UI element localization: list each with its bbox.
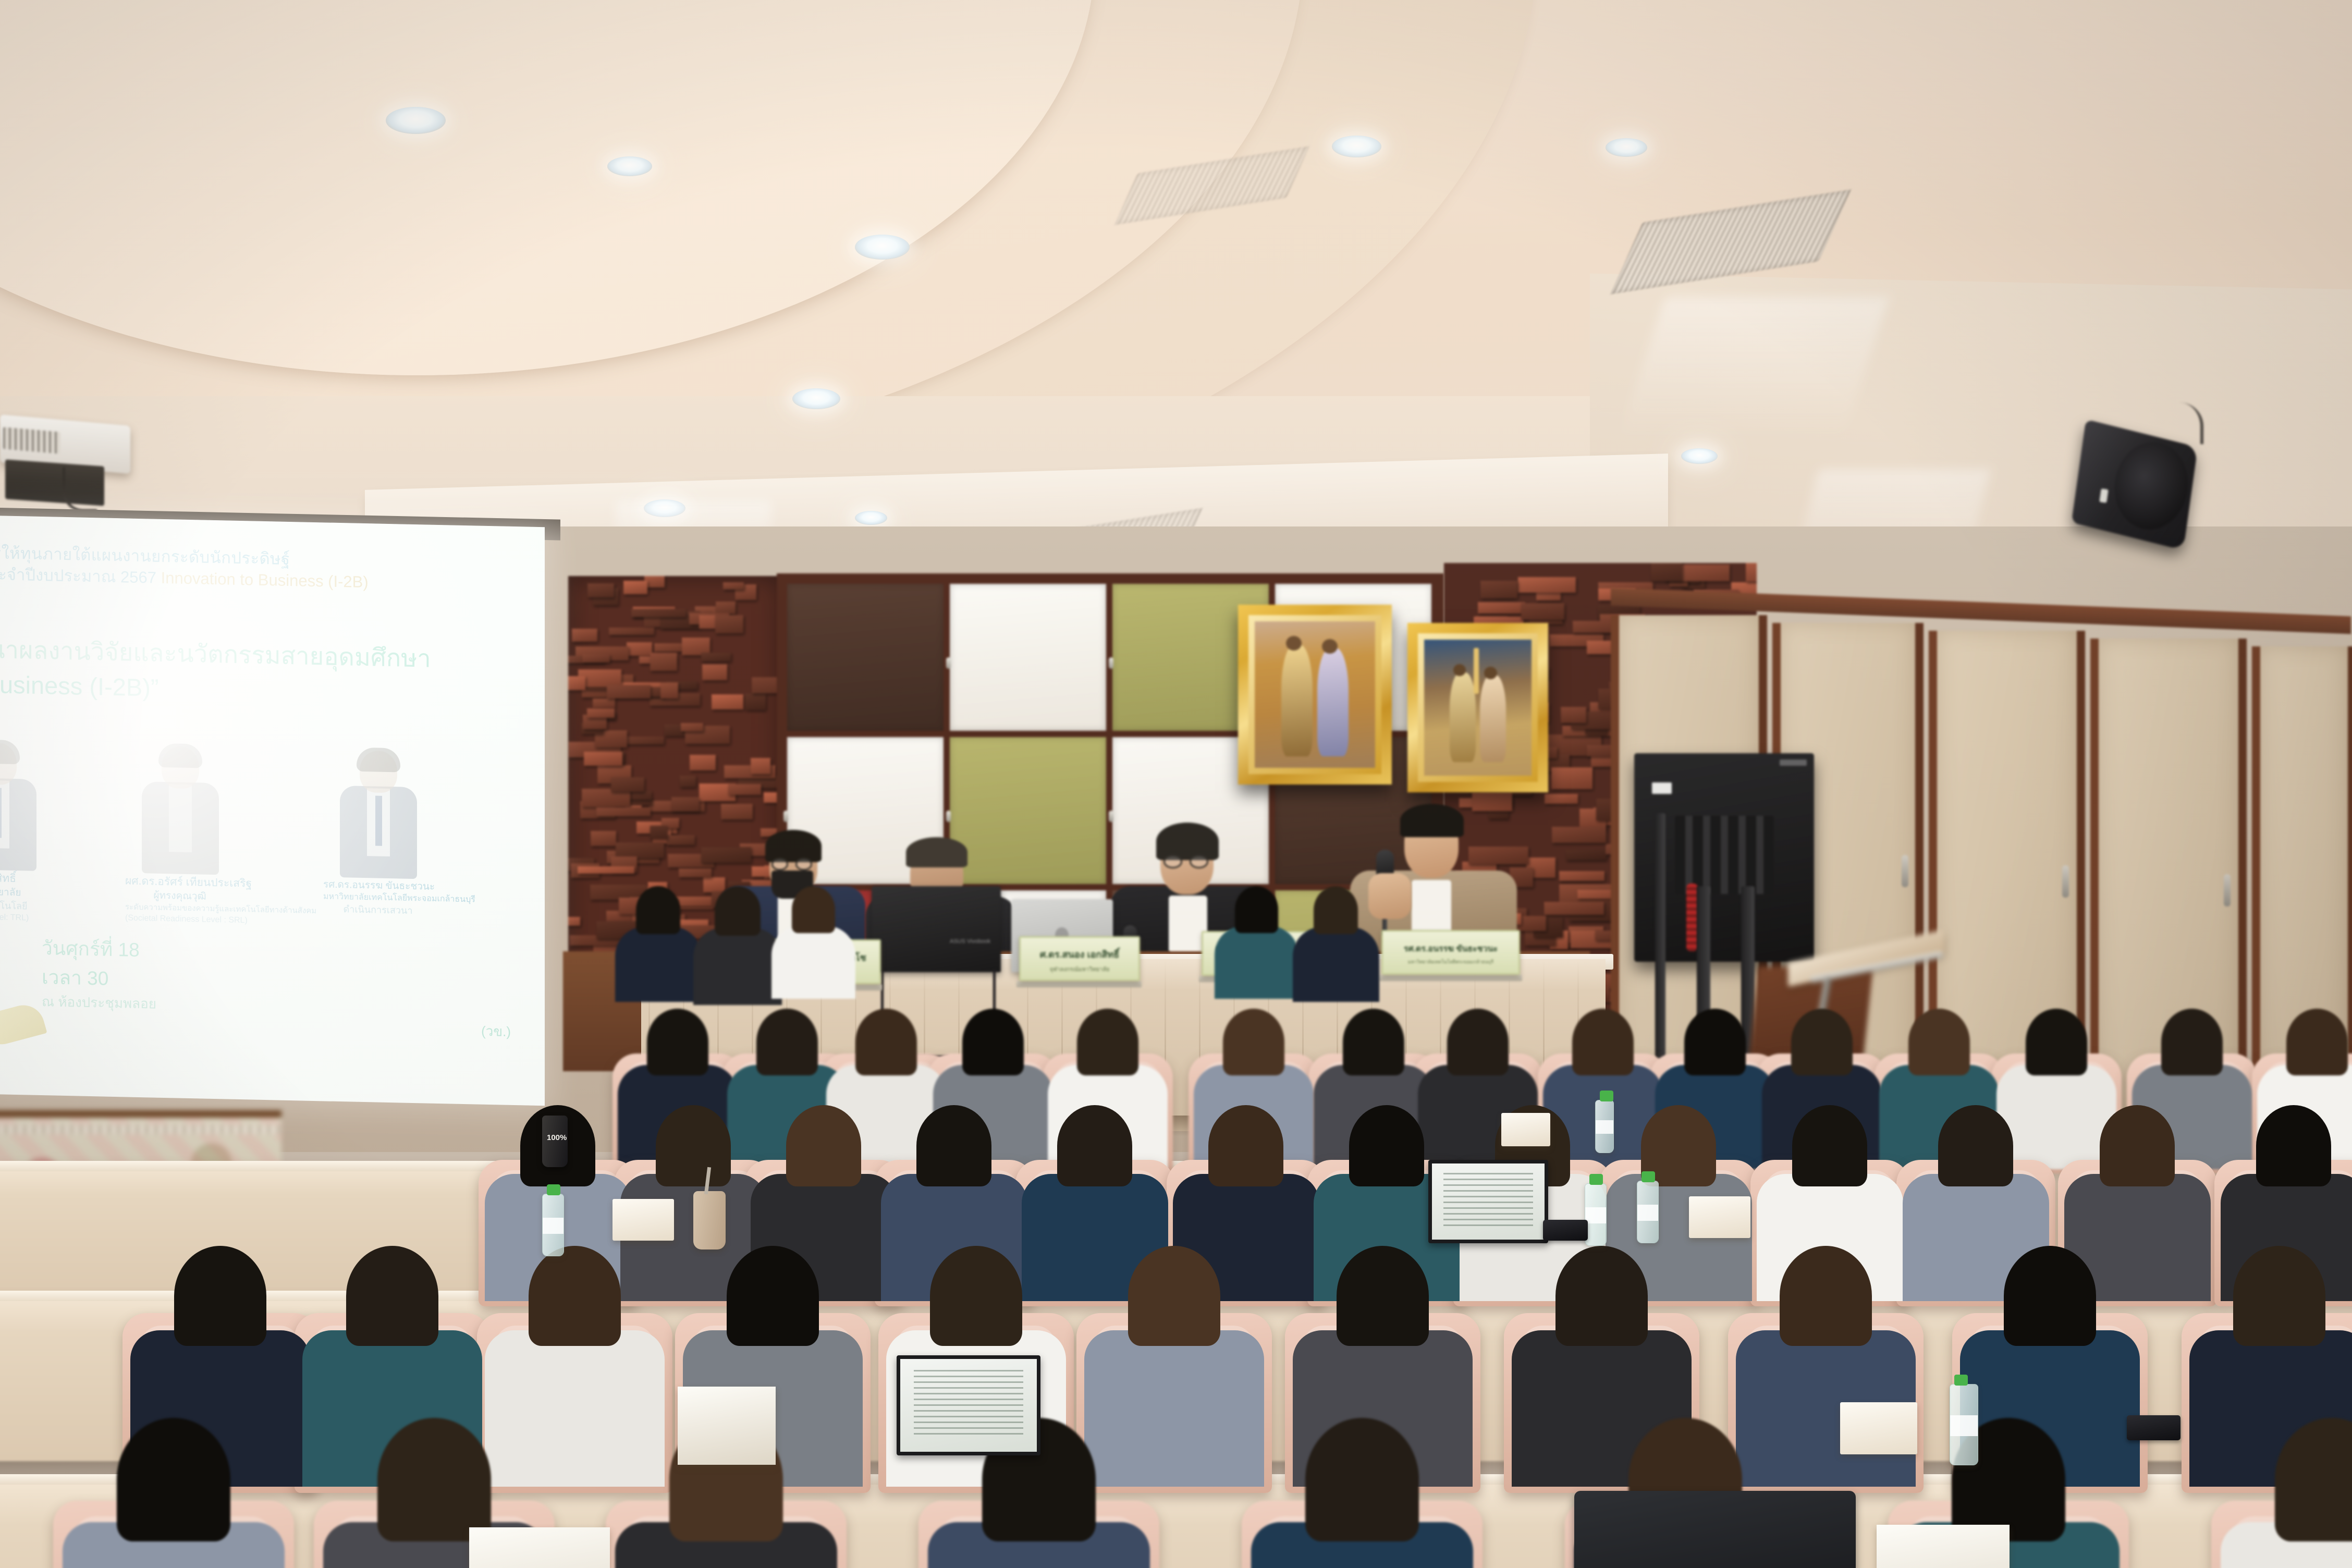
wood-block: [701, 653, 731, 661]
wood-block: [587, 708, 615, 717]
snack-box: [1501, 1113, 1550, 1146]
audience-member: [1293, 886, 1379, 999]
laptop-screen: [897, 1355, 1040, 1455]
audience-hair: [1684, 1009, 1746, 1075]
table-tent-card: [1877, 1525, 2010, 1568]
wood-block: [650, 653, 677, 671]
laptop-asus[interactable]: ASUS Vivobook: [872, 886, 1001, 972]
wood-block: [1478, 602, 1525, 613]
tv-label-sticker: [1652, 782, 1672, 794]
audience-hair: [1314, 886, 1358, 934]
downlight-icon: [855, 511, 887, 525]
ceiling-projector: [0, 417, 167, 511]
audience-hair: [2161, 1009, 2223, 1075]
audience-hair: [1349, 1105, 1424, 1186]
audience-hair: [636, 886, 680, 934]
audience-hair: [916, 1105, 991, 1186]
wood-block: [587, 583, 614, 598]
audience-hair: [1208, 1105, 1283, 1186]
downlight-icon: [855, 235, 910, 260]
bottle-label: [1950, 1415, 1978, 1436]
bottle-label: [1596, 1120, 1613, 1134]
wood-block: [712, 694, 743, 709]
bottle-label: [1585, 1207, 1606, 1223]
audience-hair: [529, 1246, 621, 1346]
wood-block: [1561, 707, 1587, 723]
wood-block: [611, 777, 644, 792]
audience-hair: [2026, 1009, 2087, 1075]
speaker-photo: [333, 747, 424, 879]
audience-torso: [693, 928, 782, 1005]
panel-screw: [946, 811, 951, 822]
partition-handle[interactable]: [1902, 855, 1908, 887]
audience-hair: [1223, 1009, 1284, 1075]
speaker-affiliation: มหาวิทยาลัยเทคโนโลยีพระจอมเกล้าธนบุรี: [323, 891, 433, 905]
wood-block: [609, 628, 654, 635]
audience-hair: [2275, 1418, 2352, 1541]
portrait-inner-frame: [1248, 615, 1381, 774]
water-bottle: [1950, 1384, 1978, 1465]
audience-hair: [1572, 1009, 1634, 1075]
audience-member: [63, 1418, 285, 1568]
wood-block: [650, 826, 667, 839]
audience-torso: [615, 927, 702, 1002]
slide-header: ยการให้ทุนภายใต้แผนงานยกระดับนักประดิษฐ์…: [0, 542, 545, 597]
iced-coffee-tumbler: [693, 1191, 726, 1249]
audience-hair: [715, 886, 760, 936]
footer-time-label: เวลา: [42, 966, 82, 989]
wood-block: [721, 804, 753, 820]
wood-block: [702, 664, 727, 680]
wood-block: [728, 784, 761, 795]
wood-block: [607, 685, 651, 699]
wood-block: [1544, 902, 1604, 915]
footer-date-number: 18: [118, 939, 140, 961]
wood-block: [751, 758, 770, 774]
audience-hair: [1447, 1009, 1509, 1075]
panelist-hair: [1156, 823, 1219, 860]
wood-block: [1518, 577, 1576, 593]
wood-block: [671, 797, 699, 812]
audience-hair: [1780, 1246, 1872, 1346]
audience-hair: [1555, 1246, 1648, 1346]
panel-screw: [1109, 657, 1113, 669]
panelist-glasses-icon: [1163, 855, 1182, 868]
speaker-name: ผศ.ดร.อรัศร์ เทียนประเสริฐ: [125, 874, 235, 891]
wood-block: [616, 842, 664, 858]
bottle-cap-icon: [1641, 1171, 1655, 1182]
bottle-cap-icon: [547, 1184, 560, 1195]
laptop-screen-content: [914, 1370, 1023, 1435]
audience-hair: [117, 1418, 230, 1541]
audience-hair: [1235, 886, 1278, 933]
wood-block: [723, 582, 744, 590]
wood-block: [1545, 794, 1578, 804]
footer-time-value: 30: [87, 967, 108, 989]
downlight-icon: [607, 156, 652, 176]
wood-block: [568, 917, 580, 926]
laptop-screen: [1428, 1160, 1548, 1243]
table-tent-card: [678, 1387, 776, 1465]
slide-speaker-card: ผศ.ดร.อรัศร์ เทียนประเสริฐ ผู้ทรงคุณวุฒิ…: [125, 742, 235, 916]
wood-block: [568, 676, 585, 690]
panelist-hair: [1400, 804, 1464, 837]
audience-hair: [174, 1246, 266, 1346]
slide-speaker-card: รศ.ดร.อนรรฆ ขันธะชวนะ มหาวิทยาลัยเทคโนโล…: [323, 746, 433, 921]
slide-header-thai: น ประจำปีงบประมาณ 2567: [0, 565, 156, 587]
bottle-cap-icon: [1589, 1174, 1603, 1185]
audience-hair: [1343, 1009, 1404, 1075]
portrait-inner-frame: [1418, 633, 1538, 782]
wood-block: [591, 831, 616, 846]
wood-block: [690, 755, 715, 770]
audience-hair: [2256, 1105, 2331, 1186]
tumbler-label: 100%: [547, 1133, 567, 1142]
insulated-tumbler: 100%: [542, 1116, 568, 1167]
bottle-cap-icon: [1954, 1375, 1968, 1386]
speaker-topic: ของเทคโนโลยี: [0, 898, 52, 913]
smartphone[interactable]: [2127, 1415, 2180, 1440]
audience-laptop[interactable]: [897, 1355, 1040, 1455]
downlight-icon: [1332, 136, 1381, 157]
audience-hair: [647, 1009, 708, 1075]
audience-hair: [1057, 1105, 1132, 1186]
nameplate-name: รศ.ดร.อนรรฆ ขันธะชวนะ: [1404, 942, 1498, 955]
wood-block: [667, 835, 695, 845]
wood-block: [1536, 592, 1561, 601]
nameplate-affiliation: จุฬาลงกรณ์มหาวิทยาลัย: [1050, 964, 1110, 974]
slide-header-english: Innovation to Business (I-2B): [161, 569, 369, 591]
nameplate-stand: [1379, 975, 1522, 981]
audience-hair: [1791, 1009, 1853, 1075]
audience-hair: [855, 1009, 917, 1075]
panel-screw: [946, 657, 951, 669]
wood-block: [681, 723, 703, 731]
wood-block: [1551, 767, 1592, 789]
snack-box: [612, 1199, 674, 1241]
audience-hair: [2100, 1105, 2175, 1186]
wood-block: [1552, 827, 1606, 843]
downlight-icon: [792, 388, 840, 409]
panelist-hair: [765, 830, 822, 862]
wood-block: [593, 699, 615, 707]
audience-member: [1215, 886, 1298, 996]
panelist-glasses-icon: [795, 858, 812, 871]
speaker-topic: ดำเนินการเสวนา: [323, 902, 433, 917]
bottle-cap-icon: [1600, 1091, 1613, 1101]
nameplate: ศ.ดร.สนอง เอกสิทธิ์ จุฬาลงกรณ์มหาวิทยาลั…: [1019, 936, 1140, 981]
wood-block: [627, 642, 652, 656]
wood-block: [631, 609, 686, 617]
audience-hair: [2286, 1009, 2348, 1075]
conference-room-photo: ยการให้ทุนภายใต้แผนงานยกระดับนักประดิษฐ์…: [0, 0, 2352, 1568]
slide-footer: วันศุกร์ที่ 18 เวลา 30 ณ ห้องประชุมพลอย …: [42, 934, 511, 1042]
wood-block: [1480, 581, 1517, 599]
audience-hair: [2004, 1246, 2096, 1346]
wood-block: [1651, 563, 1682, 581]
audience-hair: [1792, 1105, 1867, 1186]
wood-block: [660, 682, 678, 699]
partition-handle[interactable]: [2062, 865, 2069, 898]
presentation-slide: ยการให้ทุนภายใต้แผนงานยกระดับนักประดิษฐ์…: [0, 516, 545, 1106]
audience-hair: [346, 1246, 438, 1346]
speaker-topic-english: (Societal Readiness Level : SRL): [125, 912, 235, 926]
bottle-label: [543, 1218, 563, 1234]
wood-block: [715, 615, 743, 633]
audience-hair: [756, 1009, 818, 1075]
laptop-screen-content: [1443, 1173, 1534, 1226]
smartphone[interactable]: [1543, 1220, 1588, 1241]
sofa-bead-trim: [0, 1125, 281, 1134]
acoustic-panel: [787, 584, 944, 731]
tv-brand-tag: [1780, 759, 1807, 766]
wood-block: [1521, 603, 1564, 620]
partition-handle[interactable]: [2224, 874, 2231, 906]
snack-box: [1840, 1402, 1917, 1454]
downlight-icon: [1681, 448, 1718, 464]
audience-hair: [656, 1105, 731, 1186]
slide-leaf-decoration: [0, 1001, 47, 1049]
tv-wall-bracket: [1675, 816, 1774, 894]
audience-torso: [771, 926, 855, 999]
panelist-glasses-icon: [771, 858, 788, 871]
wood-block: [572, 629, 598, 642]
light-beam: [1619, 297, 1889, 438]
audience-hair: [727, 1246, 819, 1346]
wood-block: [680, 776, 696, 787]
water-bottle: [1595, 1100, 1614, 1153]
speaker-caption: ผศ.ดร.อรัศร์ เทียนประเสริฐ ผู้ทรงคุณวุฒิ…: [125, 874, 235, 926]
water-bottle: [542, 1194, 564, 1256]
audience-hair: [1337, 1246, 1429, 1346]
slide-speaker-card: เอกสิทธิ์ หาวิทยาลัย ของเทคโนโลยี ness L…: [0, 739, 52, 913]
tv-cable-coil: [1686, 884, 1698, 951]
wood-block: [623, 581, 647, 594]
downlight-icon: [386, 107, 446, 134]
speaker-photo: [0, 739, 44, 871]
wood-block: [1566, 850, 1607, 860]
wood-block: [625, 737, 664, 744]
laptop-brand-label: ASUS Vivobook: [950, 938, 990, 945]
speaker-name: เอกสิทธิ์: [0, 870, 52, 887]
audience-member: [615, 886, 702, 999]
panelist-hair: [906, 837, 967, 867]
slide-title: ละพัฒนาผลงานวิจัยและนวัตกรรมสายอุดมศึกษา…: [0, 631, 545, 714]
portrait-artwork: [1255, 621, 1375, 768]
wood-block: [584, 752, 623, 765]
audience-hair: [1128, 1246, 1220, 1346]
audience-member: [771, 886, 855, 996]
projection-screen: ยการให้ทุนภายใต้แผนงานยกระดับนักประดิษฐ์…: [0, 516, 545, 1106]
audience-torso: [1293, 927, 1379, 1002]
wood-block: [582, 654, 610, 663]
audience-hair: [377, 1418, 491, 1541]
audience-hair: [1305, 1418, 1419, 1541]
slide-speaker-row: เอกสิทธิ์ หาวิทยาลัย ของเทคโนโลยี ness L…: [0, 738, 545, 924]
audience-member: [2221, 1418, 2352, 1568]
nameplate-name: ศ.ดร.สนอง เอกสิทธิ์: [1040, 947, 1119, 962]
audience-hair: [962, 1009, 1024, 1075]
wood-block: [679, 868, 712, 877]
water-bottle: [1585, 1183, 1607, 1246]
nameplate: รศ.ดร.อนรรฆ ขันธะชวนะ มหาวิทยาลัยเทคโนโล…: [1381, 930, 1520, 975]
wood-block: [745, 693, 766, 709]
projector-cable: [63, 467, 97, 512]
royal-portrait-left: [1238, 605, 1392, 785]
audience-member: [693, 886, 782, 1002]
speaker-topic-english: ness Level: TRL): [0, 911, 52, 924]
portrait-artwork: [1424, 640, 1532, 776]
audience-member: [1251, 1418, 1473, 1568]
acoustic-panel: [950, 584, 1106, 731]
audience-hair: [786, 1105, 861, 1186]
laptop-lid: [872, 886, 1001, 972]
footer-date-prefix: วันศุกร์ที่: [42, 937, 113, 960]
speaker-caption: เอกสิทธิ์ หาวิทยาลัย ของเทคโนโลยี ness L…: [0, 870, 52, 924]
speaker-photo: [134, 743, 226, 875]
audience-laptop[interactable]: [1428, 1160, 1548, 1243]
wood-block: [1559, 871, 1604, 881]
wood-block: [578, 866, 634, 874]
audience-torso: [1215, 926, 1298, 999]
speaker-affiliation: หาวิทยาลัย: [0, 885, 52, 900]
audience-hair: [1077, 1009, 1138, 1075]
wood-block: [716, 602, 736, 614]
wood-block: [596, 807, 651, 817]
speaker-caption: รศ.ดร.อนรรฆ ขันธะชวนะ มหาวิทยาลัยเทคโนโล…: [323, 878, 433, 917]
audience-hair: [1938, 1105, 2013, 1186]
royal-portrait-right: [1407, 623, 1548, 792]
audience-hair: [792, 886, 835, 933]
downlight-icon: [1606, 138, 1647, 157]
laptop-bag: [1574, 1491, 1856, 1568]
table-tent-card: [469, 1527, 610, 1568]
snack-box: [1689, 1196, 1750, 1238]
audience-hair: [930, 1246, 1022, 1346]
water-bottle: [1637, 1181, 1659, 1243]
nameplate-stand: [1016, 981, 1142, 987]
nameplate-affiliation: มหาวิทยาลัยเทคโนโลยีพระจอมเกล้าธนบุรี: [1408, 958, 1493, 965]
wood-block: [1746, 563, 1757, 582]
panelist-glasses-icon: [1190, 855, 1208, 868]
audience-hair: [1908, 1009, 1970, 1075]
audience-hair: [2233, 1246, 2325, 1346]
bottle-label: [1637, 1205, 1658, 1221]
pa-speaker: [2077, 433, 2223, 553]
